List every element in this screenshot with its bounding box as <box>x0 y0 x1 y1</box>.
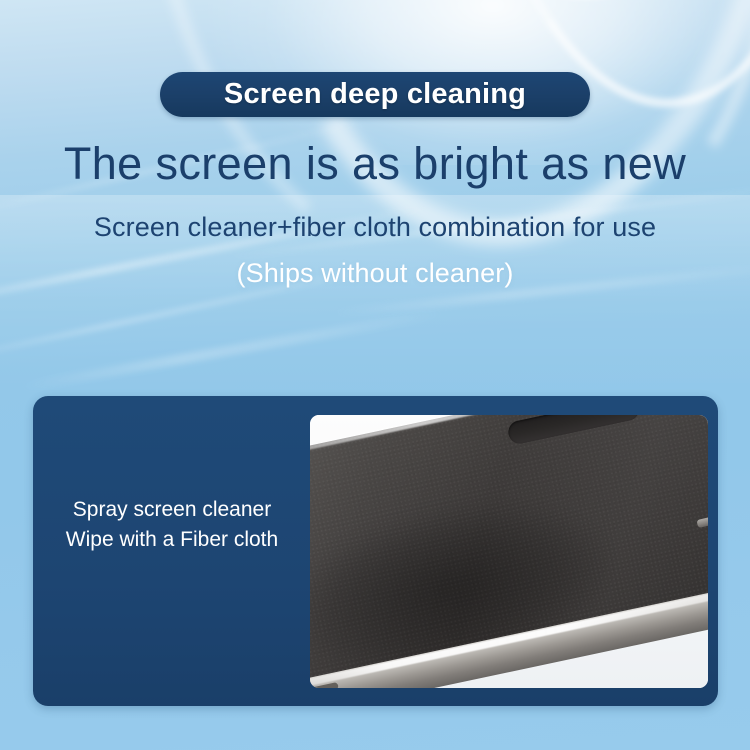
page-title: The screen is as bright as new <box>0 138 750 190</box>
badge-label: Screen deep cleaning <box>224 78 526 111</box>
subtitle-note: (Ships without cleaner) <box>0 258 750 289</box>
instruction-line-2: Wipe with a Fiber cloth <box>33 525 311 555</box>
product-photo <box>310 415 708 688</box>
product-poster: Screen deep cleaning The screen is as br… <box>0 0 750 750</box>
instruction-caption: Spray screen cleaner Wipe with a Fiber c… <box>33 495 311 555</box>
headline-badge: Screen deep cleaning <box>160 72 590 117</box>
photo-backdrop <box>310 415 708 688</box>
subtitle-primary: Screen cleaner+fiber cloth combination f… <box>0 212 750 243</box>
instruction-line-1: Spray screen cleaner <box>33 495 311 525</box>
smartphone <box>310 415 708 688</box>
